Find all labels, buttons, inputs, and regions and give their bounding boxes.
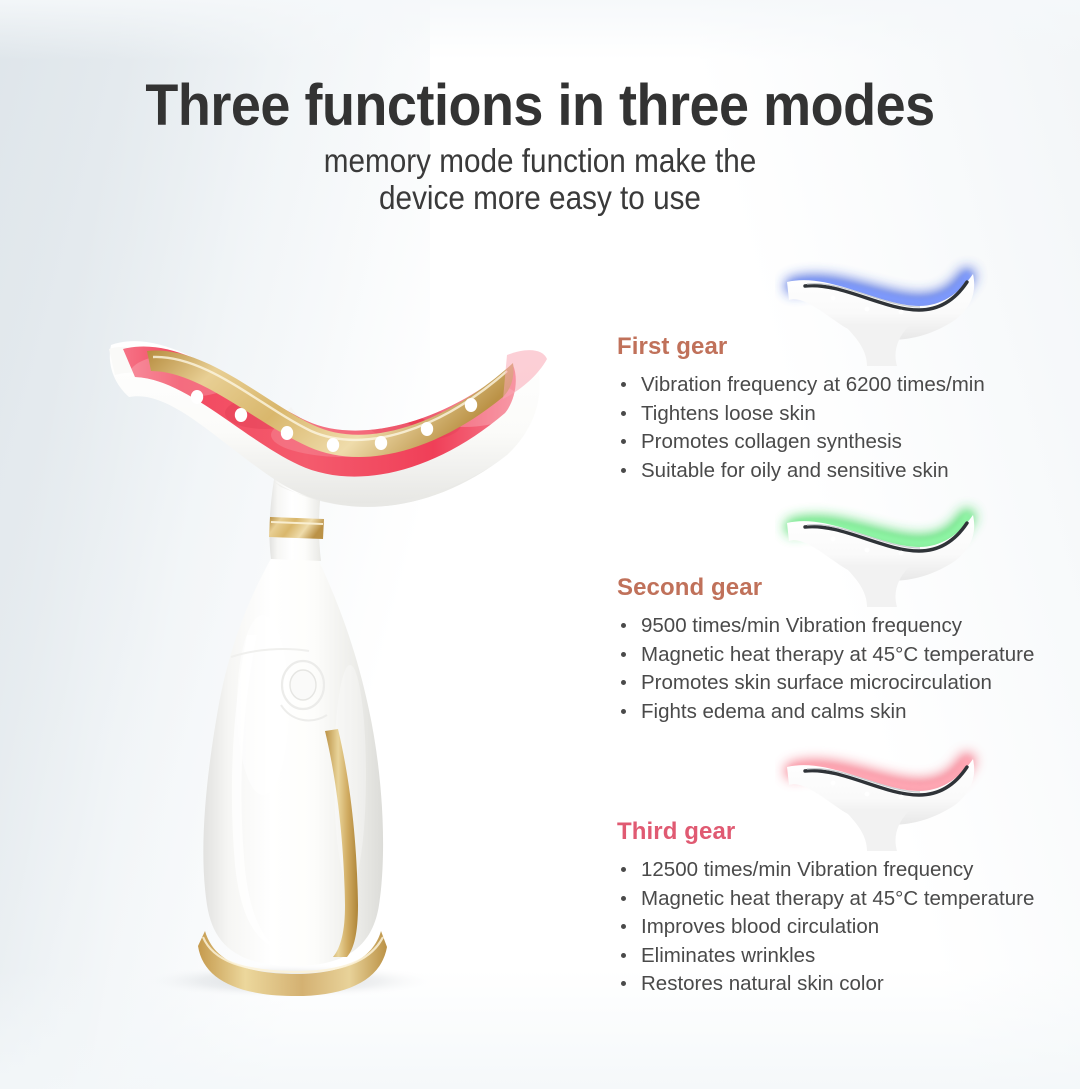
gear-title-first: First gear bbox=[617, 333, 1057, 361]
list-item: Fights edema and calms skin bbox=[617, 698, 1057, 727]
feature-text: Fights edema and calms skin bbox=[641, 700, 906, 723]
bullet-icon bbox=[621, 623, 626, 628]
bullet-icon bbox=[621, 411, 626, 416]
list-item: Eliminates wrinkles bbox=[617, 942, 1057, 971]
gear-section-third: Third gear 12500 times/min Vibration fre… bbox=[617, 818, 1057, 999]
page-subtitle-line-2: device more easy to use bbox=[54, 181, 1026, 214]
gear-section-second: Second gear 9500 times/min Vibration fre… bbox=[617, 574, 1057, 726]
feature-text: 9500 times/min Vibration frequency bbox=[641, 614, 962, 637]
bullet-icon bbox=[621, 981, 626, 986]
list-item: Suitable for oily and sensitive skin bbox=[617, 457, 1057, 486]
page-subtitle: memory mode function make the device mor… bbox=[54, 144, 1026, 214]
led-treatment-head bbox=[95, 305, 565, 525]
list-item: 12500 times/min Vibration frequency bbox=[617, 856, 1057, 885]
list-item: 9500 times/min Vibration frequency bbox=[617, 612, 1057, 641]
bullet-icon bbox=[621, 953, 626, 958]
bullet-icon bbox=[621, 439, 626, 444]
bullet-icon bbox=[621, 680, 626, 685]
feature-text: Tightens loose skin bbox=[641, 402, 816, 425]
page-subtitle-line-1: memory mode function make the bbox=[324, 142, 756, 179]
list-item: Magnetic heat therapy at 45°C temperatur… bbox=[617, 641, 1057, 670]
feature-text: Improves blood circulation bbox=[641, 915, 879, 938]
gear-title-second: Second gear bbox=[617, 574, 1057, 602]
gear-section-first: First gear Vibration frequency at 6200 t… bbox=[617, 333, 1057, 485]
gear-feature-list-third: 12500 times/min Vibration frequency Magn… bbox=[617, 856, 1057, 999]
bullet-icon bbox=[621, 709, 626, 714]
feature-text: 12500 times/min Vibration frequency bbox=[641, 858, 973, 881]
page-title: Three functions in three modes bbox=[38, 72, 1042, 139]
infographic-page: Three functions in three modes memory mo… bbox=[0, 0, 1080, 1089]
bullet-icon bbox=[621, 924, 626, 929]
feature-text: Magnetic heat therapy at 45°C temperatur… bbox=[641, 643, 1034, 666]
feature-text: Restores natural skin color bbox=[641, 972, 884, 995]
list-item: Restores natural skin color bbox=[617, 970, 1057, 999]
feature-text: Vibration frequency at 6200 times/min bbox=[641, 373, 985, 396]
bullet-icon bbox=[621, 382, 626, 387]
bullet-icon bbox=[621, 896, 626, 901]
bullet-icon bbox=[621, 867, 626, 872]
list-item: Magnetic heat therapy at 45°C temperatur… bbox=[617, 885, 1057, 914]
hero-product-image bbox=[95, 305, 565, 1005]
gear-title-third: Third gear bbox=[617, 818, 1057, 846]
feature-text: Suitable for oily and sensitive skin bbox=[641, 459, 949, 482]
list-item: Promotes skin surface microcirculation bbox=[617, 669, 1057, 698]
feature-text: Promotes collagen synthesis bbox=[641, 430, 902, 453]
list-item: Tightens loose skin bbox=[617, 400, 1057, 429]
feature-text: Promotes skin surface microcirculation bbox=[641, 671, 992, 694]
list-item: Improves blood circulation bbox=[617, 913, 1057, 942]
bullet-icon bbox=[621, 468, 626, 473]
feature-text: Magnetic heat therapy at 45°C temperatur… bbox=[641, 887, 1034, 910]
gear-feature-list-second: 9500 times/min Vibration frequency Magne… bbox=[617, 612, 1057, 726]
list-item: Promotes collagen synthesis bbox=[617, 428, 1057, 457]
bullet-icon bbox=[621, 652, 626, 657]
feature-text: Eliminates wrinkles bbox=[641, 944, 815, 967]
gear-feature-list-first: Vibration frequency at 6200 times/min Ti… bbox=[617, 371, 1057, 485]
background-top-fade bbox=[0, 0, 1080, 60]
list-item: Vibration frequency at 6200 times/min bbox=[617, 371, 1057, 400]
